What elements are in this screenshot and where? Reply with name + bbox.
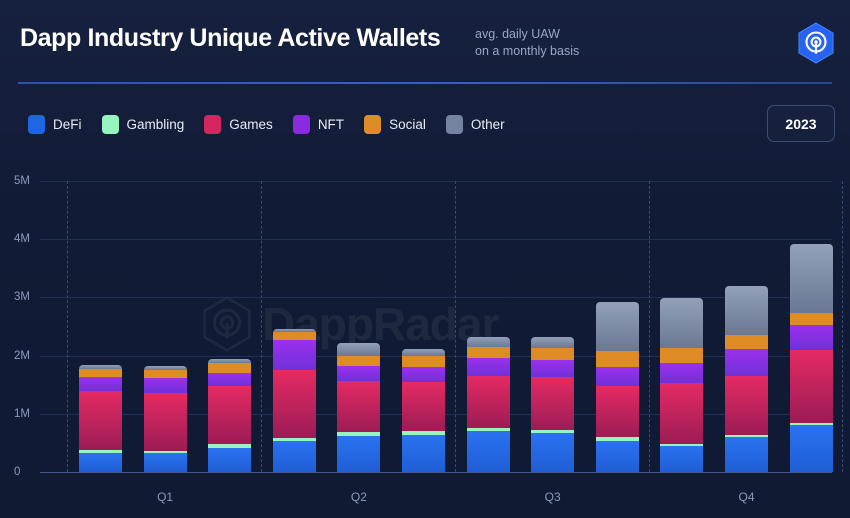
bar-segment-defi (596, 441, 639, 472)
bar-segment-social (531, 348, 574, 360)
bar-segment-nft (144, 378, 187, 393)
bar-series-container (0, 0, 850, 518)
bar-segment-social (596, 351, 639, 367)
bar-segment-defi (790, 425, 833, 472)
bar-segment-defi (467, 431, 510, 472)
bar-segment-nft (596, 367, 639, 386)
bar-segment-nft (725, 349, 768, 376)
bar-segment-social (467, 347, 510, 359)
bar-column[interactable] (660, 298, 703, 472)
bar-segment-other (402, 349, 445, 356)
bar-segment-games (79, 391, 122, 450)
bar-column[interactable] (725, 286, 768, 472)
bar-segment-social (725, 335, 768, 348)
bar-segment-other (531, 337, 574, 348)
bar-column[interactable] (144, 366, 187, 472)
bar-segment-other (596, 302, 639, 351)
bar-segment-nft (467, 358, 510, 375)
bar-column[interactable] (596, 302, 639, 472)
bar-segment-games (208, 386, 251, 444)
bar-column[interactable] (273, 329, 316, 472)
bar-segment-nft (790, 325, 833, 350)
bar-segment-nft (531, 360, 574, 377)
bar-segment-other (790, 244, 833, 313)
bar-segment-games (467, 376, 510, 428)
bar-segment-social (273, 332, 316, 340)
bar-segment-games (725, 376, 768, 435)
bar-segment-games (337, 381, 380, 432)
bar-segment-defi (79, 453, 122, 472)
bar-segment-nft (337, 366, 380, 381)
bar-segment-other (660, 298, 703, 348)
bar-segment-games (144, 393, 187, 451)
bar-segment-defi (337, 436, 380, 472)
bar-column[interactable] (208, 359, 251, 472)
bar-segment-social (660, 348, 703, 363)
chart-canvas: Dapp Industry Unique Active Wallets avg.… (0, 0, 850, 518)
bar-column[interactable] (337, 343, 380, 472)
bar-segment-nft (660, 363, 703, 382)
bar-segment-other (725, 286, 768, 335)
bar-segment-games (596, 386, 639, 437)
bar-segment-games (660, 383, 703, 444)
bar-column[interactable] (790, 244, 833, 472)
bar-segment-other (337, 343, 380, 356)
bar-segment-games (790, 350, 833, 423)
bar-column[interactable] (467, 337, 510, 472)
bar-segment-social (144, 370, 187, 378)
bar-segment-nft (402, 367, 445, 383)
bar-segment-social (790, 313, 833, 325)
bar-segment-social (402, 356, 445, 366)
bar-segment-defi (144, 453, 187, 472)
bar-segment-social (337, 356, 380, 366)
bar-segment-defi (273, 441, 316, 472)
bar-segment-games (402, 382, 445, 431)
bar-segment-defi (208, 448, 251, 472)
bar-segment-games (531, 377, 574, 429)
bar-segment-nft (208, 373, 251, 386)
bar-segment-games (273, 370, 316, 438)
bar-column[interactable] (79, 365, 122, 472)
bar-column[interactable] (531, 337, 574, 472)
bar-column[interactable] (402, 349, 445, 472)
bar-segment-defi (531, 433, 574, 472)
bar-segment-defi (402, 435, 445, 472)
bar-segment-social (208, 363, 251, 372)
bar-segment-nft (273, 340, 316, 370)
bar-segment-defi (660, 446, 703, 472)
bar-segment-other (467, 337, 510, 347)
bar-segment-defi (725, 437, 768, 472)
bar-segment-social (79, 369, 122, 377)
bar-segment-nft (79, 377, 122, 392)
